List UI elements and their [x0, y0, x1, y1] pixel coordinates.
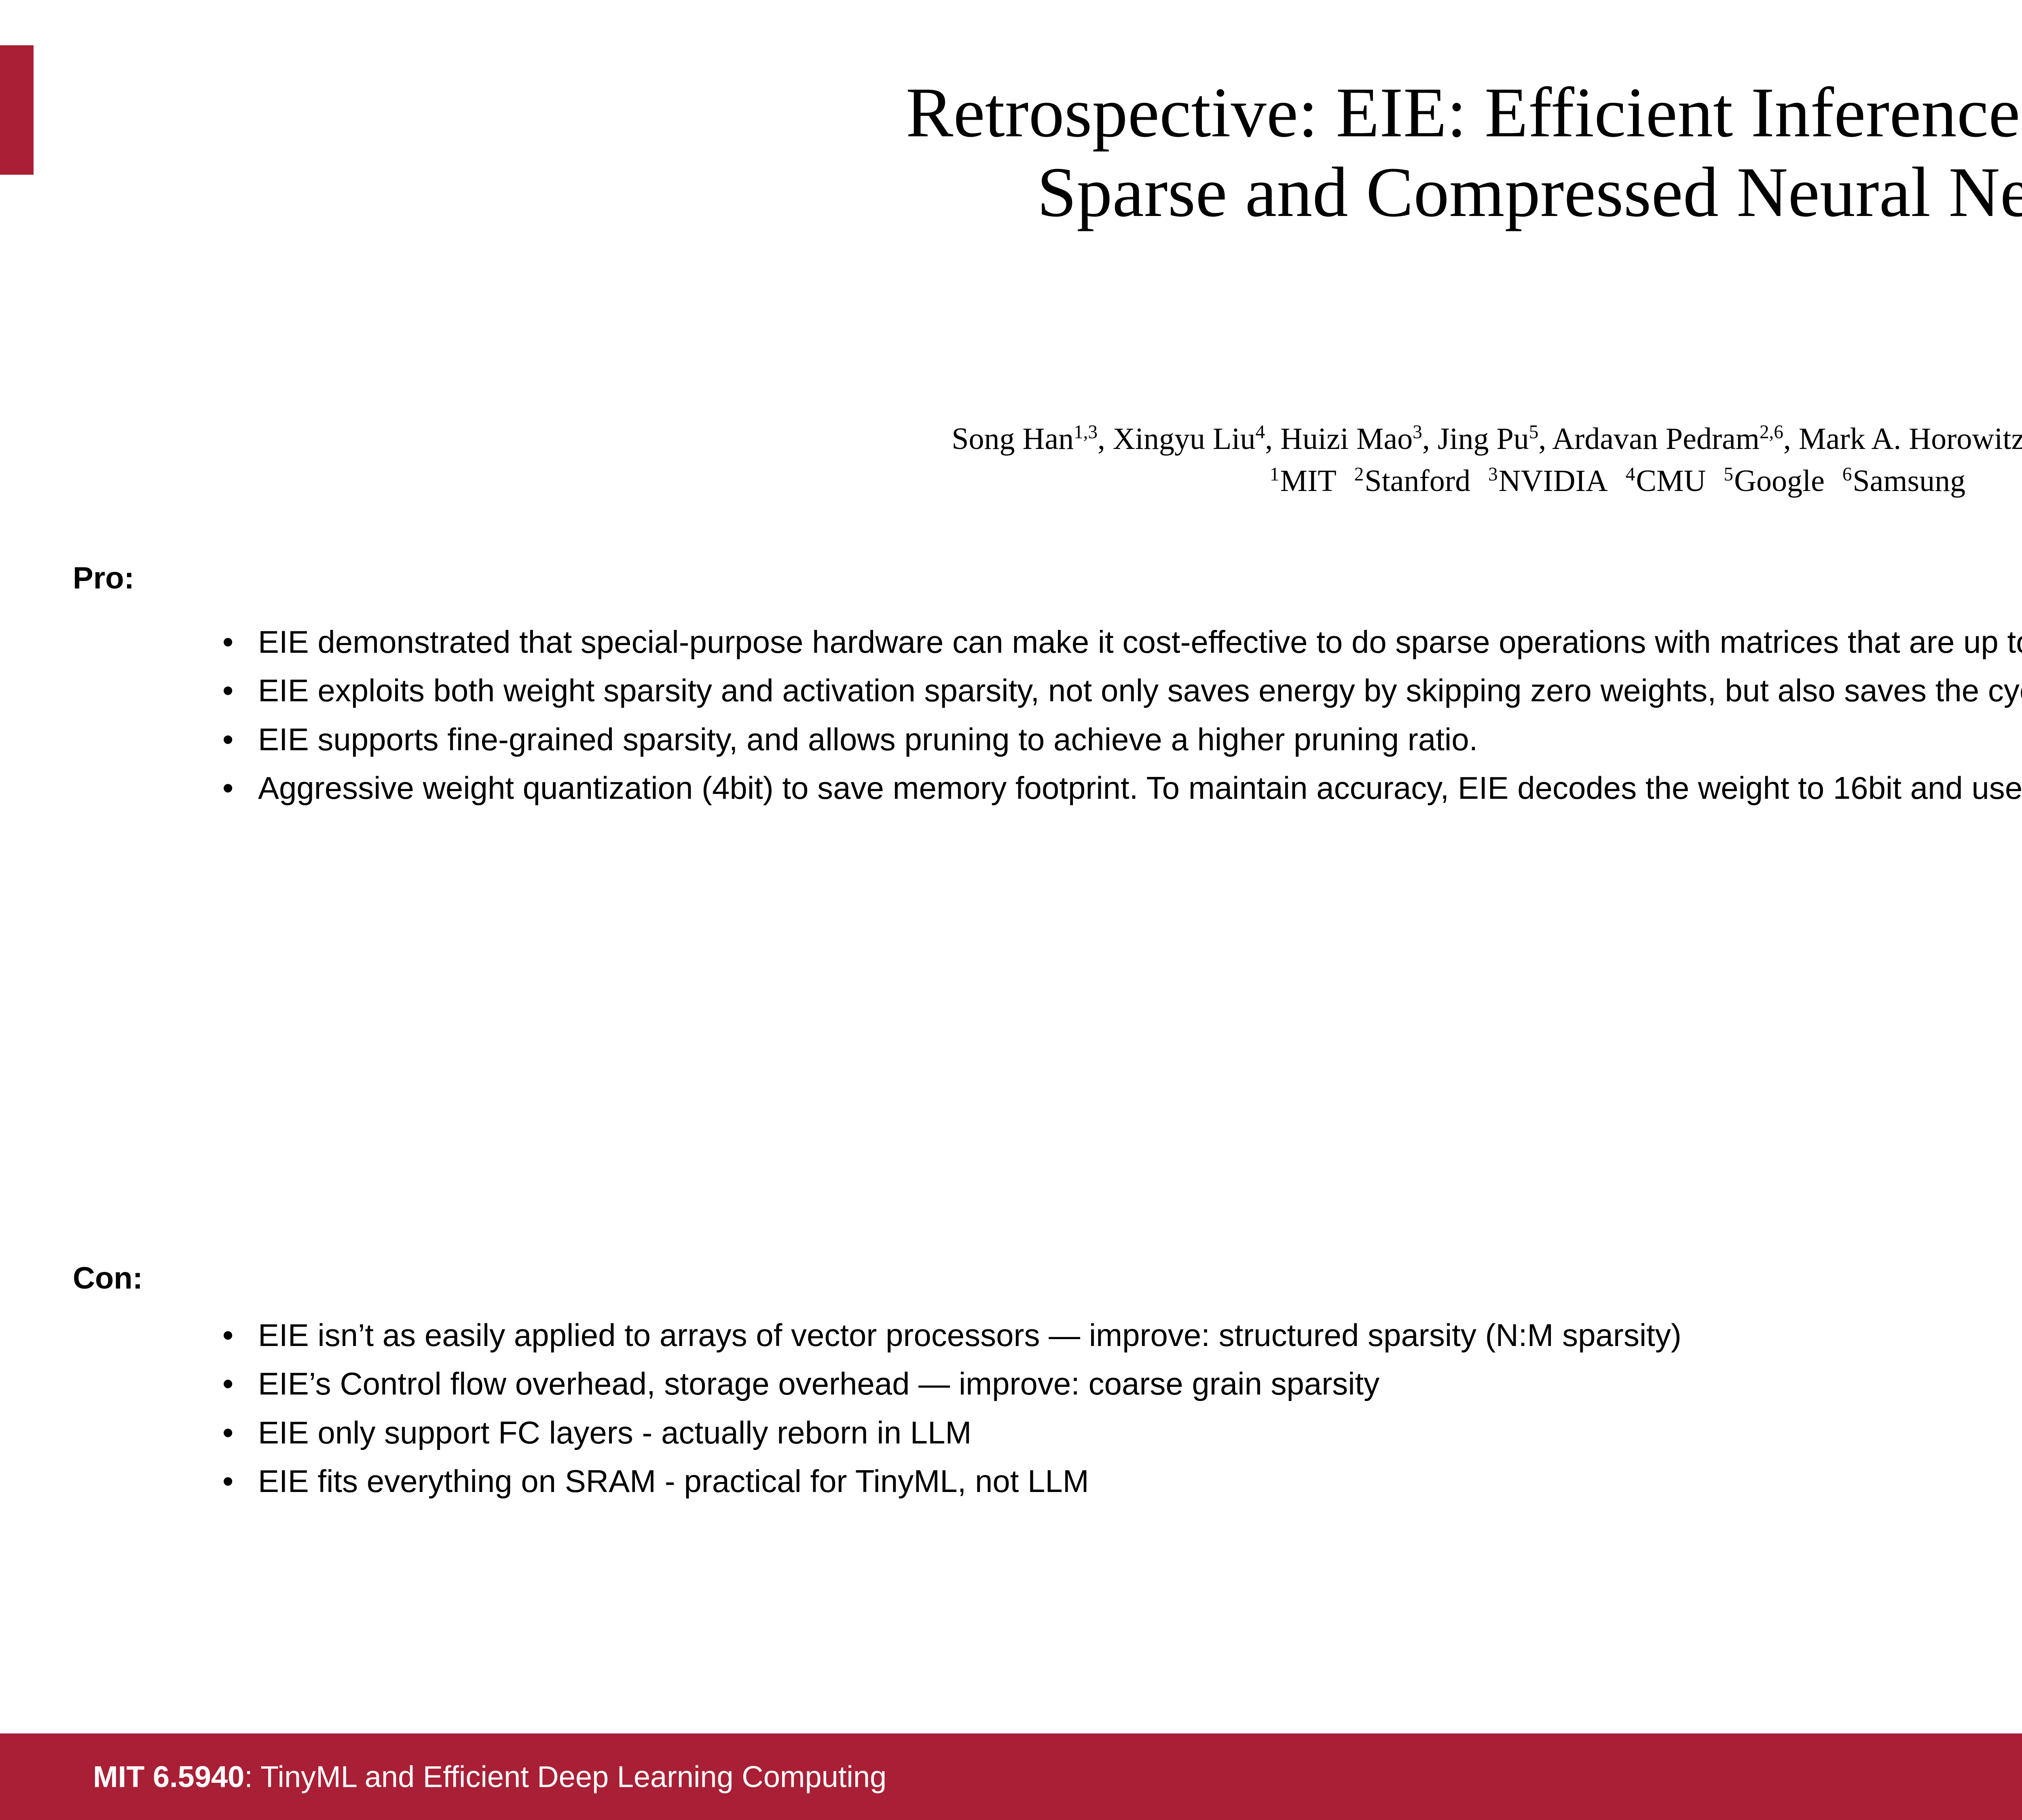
list-item: •EIE isn’t as easily applied to arrays o… — [210, 1316, 2022, 1354]
list-item-text: EIE only support FC layers - actually re… — [258, 1415, 971, 1450]
pro-heading: Pro: — [73, 563, 134, 594]
list-item: •EIE exploits both weight sparsity and a… — [210, 671, 2022, 709]
list-item-text: Aggressive weight quantization (4bit) to… — [258, 770, 2022, 806]
author-affiliation-marker: 5 — [1529, 422, 1539, 443]
author-affiliation-marker: 1,3 — [1074, 422, 1098, 443]
author-separator: , — [1783, 422, 1799, 456]
author-name: Mark A. Horowitz — [1799, 422, 2022, 456]
list-item-text: EIE exploits both weight sparsity and ac… — [258, 673, 2022, 708]
affiliation-name: NVIDIA — [1499, 464, 1608, 498]
bullet-dot-icon: • — [222, 623, 233, 661]
affiliation-entry: 3NVIDIA — [1488, 462, 1608, 500]
authors-line: Song Han1,3, Xingyu Liu4, Huizi Mao3, Ji… — [0, 420, 2022, 458]
author-name: Jing Pu — [1438, 422, 1529, 456]
author-name: Song Han — [952, 422, 1074, 456]
affiliation-name: Stanford — [1364, 464, 1470, 498]
author-separator: , — [1538, 422, 1552, 456]
affiliation-name: Samsung — [1853, 464, 1965, 498]
footer-bar: MIT 6.5940: TinyML and Efficient Deep Le… — [0, 1733, 2022, 1820]
affiliation-name: CMU — [1636, 464, 1706, 498]
bullet-dot-icon: • — [222, 1462, 233, 1500]
bullet-dot-icon: • — [222, 671, 233, 709]
list-item: •EIE demonstrated that special-purpose h… — [210, 623, 2022, 661]
author-separator: , — [1098, 422, 1113, 456]
affiliation-marker: 4 — [1626, 464, 1635, 485]
list-item: •EIE’s Control flow overhead, storage ov… — [210, 1365, 2022, 1403]
author-separator: , — [1422, 422, 1438, 456]
bullet-dot-icon: • — [222, 1365, 233, 1403]
author-affiliation-marker: 3 — [1413, 422, 1422, 443]
con-heading: Con: — [73, 1263, 143, 1294]
title-line-2: Sparse and Compressed Neural Network — [0, 152, 2022, 232]
list-item-text: EIE demonstrated that special-purpose ha… — [258, 624, 2022, 660]
title-line-1: Retrospective: EIE: Efficient Inference … — [0, 73, 2022, 152]
list-item: •Aggressive weight quantization (4bit) t… — [210, 769, 2022, 807]
con-bullet-list: •EIE isn’t as easily applied to arrays o… — [210, 1316, 2022, 1511]
list-item-text: EIE isn’t as easily applied to arrays of… — [258, 1317, 1681, 1353]
author-separator: , — [1265, 422, 1280, 456]
affiliation-marker: 6 — [1842, 464, 1852, 485]
affiliation-entry: 4CMU — [1626, 462, 1706, 500]
author-affiliation-marker: 4 — [1256, 422, 1265, 443]
affiliation-entry: 1MIT — [1270, 462, 1337, 500]
bullet-dot-icon: • — [222, 769, 233, 807]
pro-bullet-list: •EIE demonstrated that special-purpose h… — [210, 623, 2022, 818]
author-name: Huizi Mao — [1280, 422, 1413, 456]
page-title: Retrospective: EIE: Efficient Inference … — [0, 73, 2022, 232]
affiliation-name: MIT — [1280, 464, 1336, 498]
list-item-text: EIE supports fine-grained sparsity, and … — [258, 722, 1478, 757]
author-affiliation-marker: 2,6 — [1760, 422, 1783, 443]
list-item: •EIE fits everything on SRAM - practical… — [210, 1462, 2022, 1500]
author-name: Xingyu Liu — [1113, 422, 1256, 456]
affiliation-marker: 5 — [1724, 464, 1734, 485]
affiliation-entry: 6Samsung — [1842, 462, 1965, 500]
list-item-text: EIE’s Control flow overhead, storage ove… — [258, 1366, 1379, 1401]
affiliation-marker: 1 — [1270, 464, 1280, 485]
affiliation-entry: 5Google — [1724, 462, 1825, 500]
affiliation-marker: 2 — [1354, 464, 1364, 485]
footer-course-code: MIT 6.5940 — [93, 1760, 244, 1794]
author-name: Ardavan Pedram — [1552, 422, 1760, 456]
affiliations-line: 1MIT2Stanford3NVIDIA4CMU5Google6Samsung — [0, 462, 2022, 500]
bullet-dot-icon: • — [222, 720, 233, 758]
bullet-dot-icon: • — [222, 1316, 233, 1354]
list-item: •EIE only support FC layers - actually r… — [210, 1414, 2022, 1452]
authors-block: Song Han1,3, Xingyu Liu4, Huizi Mao3, Ji… — [0, 420, 2022, 500]
affiliation-name: Google — [1734, 464, 1825, 498]
list-item-text: EIE fits everything on SRAM - practical … — [258, 1463, 1089, 1499]
affiliation-entry: 2Stanford — [1354, 462, 1470, 500]
affiliation-marker: 3 — [1488, 464, 1498, 485]
bullet-dot-icon: • — [222, 1414, 233, 1452]
footer-course-title: : TinyML and Efficient Deep Learning Com… — [244, 1760, 886, 1794]
footer-course-label: MIT 6.5940: TinyML and Efficient Deep Le… — [93, 1760, 886, 1794]
list-item: •EIE supports fine-grained sparsity, and… — [210, 720, 2022, 758]
